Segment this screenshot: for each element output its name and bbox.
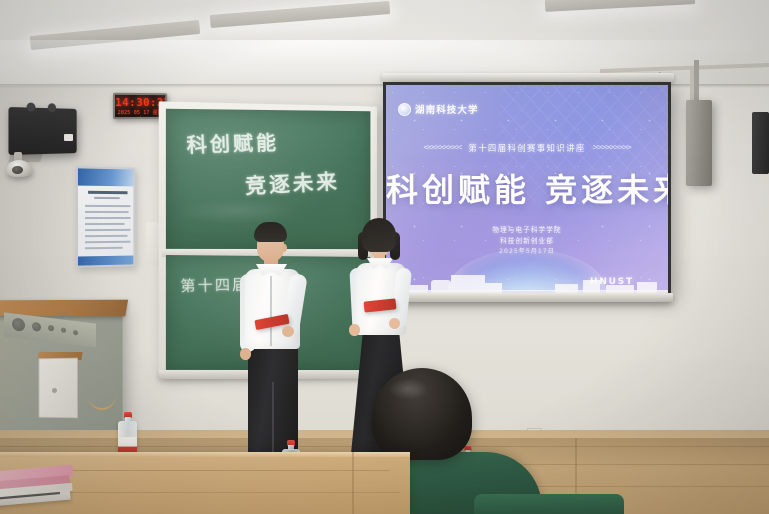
audience-hair-highlight [388, 378, 428, 400]
wall-speaker-left [8, 107, 76, 155]
presenter-male-hair [254, 222, 287, 242]
wall-speaker-right [686, 100, 712, 186]
presenter-male-hand [282, 326, 294, 337]
desk-grain [30, 470, 390, 471]
framed-wall-notice [76, 166, 135, 267]
presenter-male [234, 222, 318, 476]
speaker-bracket [694, 60, 699, 102]
presenter-female-hair [362, 218, 396, 252]
green-chair-back [474, 494, 624, 514]
trouser-seam [272, 382, 274, 462]
presenter-female-hand [389, 318, 400, 329]
shirt-placket [270, 276, 272, 346]
classroom-photo: 14:30:37 2025 05 17 星期六 科创赋能 竞逐未来 第十四届 事… [0, 0, 769, 514]
speaker-label [64, 134, 73, 141]
presenter-male-ear [282, 244, 287, 252]
wall-speaker-far-right [752, 112, 769, 174]
lectern-indicator-icon [52, 388, 57, 393]
presenter-female-hand [349, 324, 360, 336]
chalk-text-line-2: 竞逐未来 [244, 166, 340, 201]
presenter-male-hand [240, 348, 251, 360]
chalk-text-line-1: 科创赋能 [186, 126, 279, 158]
lectern-equipment-box [38, 358, 77, 419]
document-folders [0, 465, 75, 506]
chalk-smudge [176, 198, 296, 225]
projection-screen: 湖南科技大学 <<<<<<<<< 第十四届科创赛事知识讲座 >>>>>>>>> … [383, 82, 671, 296]
projector-screen-housing [382, 73, 674, 82]
desk-seam [352, 452, 354, 514]
desk-front-edge [0, 452, 410, 457]
camera-lens-icon [12, 166, 23, 174]
slide-glare [386, 85, 668, 293]
